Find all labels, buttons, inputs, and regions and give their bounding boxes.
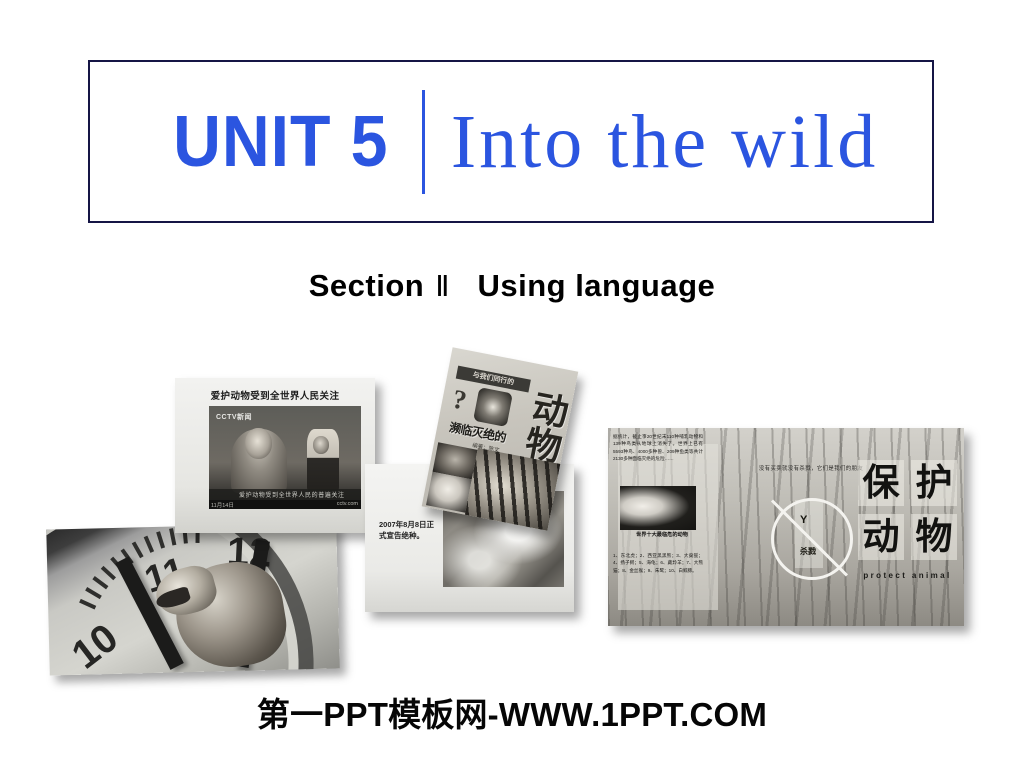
poster-english-caption: protect animal <box>858 571 957 580</box>
poster-char-2: 护 <box>911 460 957 506</box>
tv-news-slide: 爱护动物受到全世界人民关注 CCTV新闻 爱护动物受到全世界人民的普遍关注 11… <box>175 378 375 533</box>
status-slide-body: 2007年8月8日正式宣告绝种。 <box>379 520 435 542</box>
section-subtitle: SectionⅡUsing language <box>0 268 1024 304</box>
poster-panda-photo <box>620 486 696 530</box>
poster-char-1: 保 <box>858 460 904 506</box>
poster-statistics-text: 据统计，截止亊20世纪末110种哺乳动物和139种鸟类从地球上消失了。世界上已有… <box>613 433 703 463</box>
clock-bear-photo: 10 11 12 <box>46 522 339 675</box>
image-collage: 10 11 12 爱护动物受到全世界人民关注 CCTV新闻 爱护动物受到全世界人… <box>0 340 1024 685</box>
section-topic: Using language <box>477 268 715 303</box>
news-caption: 爱护动物受到全世界人民关注 <box>175 388 375 402</box>
poster-species-list: 1、东北虎；2、西亚黑黑熊；3、大燊猨；4、扬子鳄；5、海龟；6、藏羚羊；7、大… <box>613 552 703 574</box>
section-word: Section <box>309 268 424 303</box>
poster-char-3: 动 <box>858 514 904 560</box>
unit-title-text: Into the wild <box>451 104 878 180</box>
title-separator-bar <box>422 90 425 194</box>
magazine-question-mark: ? <box>450 384 469 417</box>
news-anchor-head <box>245 428 272 459</box>
unit-number-label: UNIT 5 <box>155 106 402 178</box>
news-screen: CCTV新闻 爱护动物受到全世界人民的普遍关注 11月14日 cctv.com <box>209 406 361 509</box>
section-roman-numeral: Ⅱ <box>433 271 451 303</box>
site-watermark: 第一PPT模板网-WWW.1PPT.COM <box>0 688 1024 736</box>
channel-logo: CCTV新闻 <box>216 412 252 422</box>
magazine-eye-image <box>473 387 513 427</box>
news-ticker: 爱护动物受到全世界人民的普遍关注 <box>209 489 361 500</box>
title-banner: UNIT 5 Into the wild <box>88 60 934 223</box>
news-site: cctv.com <box>337 501 358 507</box>
protect-animal-poster: 据统计，截止亊20世纪末110种哺乳动物和139种鸟类从地球上消失了。世界上已有… <box>608 428 964 626</box>
poster-panda-caption: 世界十大最临危的动物 <box>636 532 708 540</box>
news-ticker-text: 爱护动物受到全世界人民的普遍关注 <box>239 490 345 499</box>
title-row: UNIT 5 Into the wild <box>90 90 932 194</box>
magazine-title: 动物 <box>522 388 568 465</box>
news-man-head <box>313 436 329 454</box>
magazine-panda-thumb <box>426 472 472 513</box>
news-date: 11月14日 <box>211 501 234 509</box>
news-bottom-bar: 11月14日 cctv.com <box>209 500 361 509</box>
poster-char-4: 物 <box>911 514 957 560</box>
